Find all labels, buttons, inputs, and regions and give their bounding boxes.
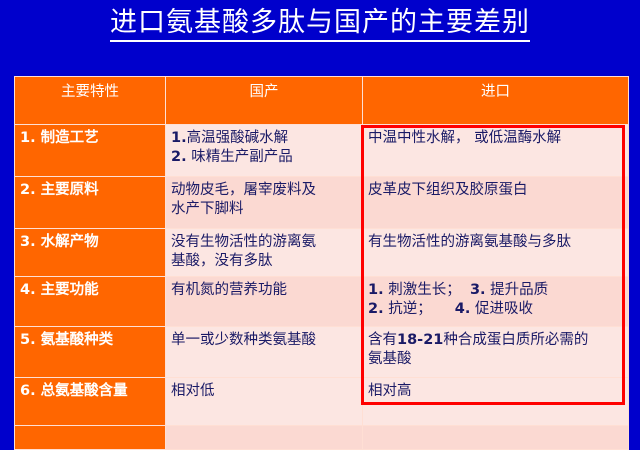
comparison-table-wrapper: 主要特性 国产 进口 1. 制造工艺 1.高温强酸碱水解 2. 味 bbox=[14, 76, 628, 445]
line-number-2: 3. bbox=[470, 282, 486, 298]
row-label-3: 3. 水解产物 bbox=[15, 229, 165, 252]
domestic-cell: 1.高温强酸碱水解 2. 味精生产副产品 bbox=[166, 125, 363, 177]
line-number: 1. bbox=[171, 130, 187, 146]
header-cell-feature: 主要特性 bbox=[15, 77, 166, 125]
imported-line: 氨基酸 bbox=[368, 350, 625, 369]
line-text-2: 提升品质 bbox=[490, 282, 548, 298]
domestic-content-5: 单一或少数种类氨基酸 bbox=[166, 327, 362, 350]
line-number: 2. bbox=[368, 301, 384, 317]
row-label-5: 5. 氨基酸种类 bbox=[15, 327, 165, 350]
imported-cell: 1. 刺激生长； 3. 提升品质 2. 抗逆； 4. 促进吸收 bbox=[363, 277, 629, 327]
empty-imported-cell bbox=[363, 426, 629, 450]
domestic-line: 没有生物活性的游离氨 bbox=[171, 233, 359, 252]
domestic-content-2: 动物皮毛，屠宰废料及 水产下脚料 bbox=[166, 177, 362, 219]
domestic-line: 2. 味精生产副产品 bbox=[171, 148, 359, 167]
row-label-cell: 3. 水解产物 bbox=[15, 229, 166, 277]
table-header-row: 主要特性 国产 进口 bbox=[15, 77, 629, 125]
line-suffix: 种合成蛋白质所必需的 bbox=[443, 332, 588, 348]
imported-cell: 皮革皮下组织及胶原蛋白 bbox=[363, 177, 629, 229]
line-text: 高温强酸碱水解 bbox=[187, 130, 289, 146]
imported-line: 中温中性水解， 或低温酶水解 bbox=[368, 129, 625, 148]
header-feature-label: 主要特性 bbox=[15, 77, 165, 102]
row-number-1: 1. bbox=[20, 130, 36, 146]
slide-root: 进口氨基酸多肽与国产的主要差别 主要特性 国产 进口 1. 制造工艺 bbox=[0, 0, 640, 447]
row-label-cell: 2. 主要原料 bbox=[15, 177, 166, 229]
domestic-content-1: 1.高温强酸碱水解 2. 味精生产副产品 bbox=[166, 125, 362, 167]
empty-label bbox=[15, 426, 165, 449]
imported-cell: 有生物活性的游离氨基酸与多肽 bbox=[363, 229, 629, 277]
row-label-6: 6. 总氨基酸含量 bbox=[15, 378, 165, 401]
line-text: 味精生产副产品 bbox=[191, 149, 293, 165]
row-label-2: 2. 主要原料 bbox=[15, 177, 165, 200]
imported-line: 相对高 bbox=[368, 382, 625, 401]
row-feature-6: 总氨基酸含量 bbox=[41, 383, 128, 399]
row-number-2: 2. bbox=[20, 182, 36, 198]
header-domestic-label: 国产 bbox=[166, 77, 362, 102]
line-text: 抗逆； bbox=[388, 301, 432, 317]
table-row: 2. 主要原料 动物皮毛，屠宰废料及 水产下脚料 皮革皮下组织及胶原蛋白 bbox=[15, 177, 629, 229]
domestic-content-4: 有机氮的营养功能 bbox=[166, 277, 362, 300]
row-feature-4: 主要功能 bbox=[41, 282, 99, 298]
line-bold-range: 18-21 bbox=[397, 332, 443, 348]
imported-content-4: 1. 刺激生长； 3. 提升品质 2. 抗逆； 4. 促进吸收 bbox=[363, 277, 628, 319]
line-text-2: 促进吸收 bbox=[475, 301, 533, 317]
empty-domestic-cell bbox=[166, 426, 363, 450]
line-number-2: 4. bbox=[455, 301, 471, 317]
line-text: 刺激生长； bbox=[388, 282, 461, 298]
table-row: 5. 氨基酸种类 单一或少数种类氨基酸 含有18-21种合成蛋白质所必需的 氨基… bbox=[15, 327, 629, 378]
domestic-line: 有机氮的营养功能 bbox=[171, 281, 359, 300]
table-row-empty bbox=[15, 426, 629, 450]
imported-line: 1. 刺激生长； 3. 提升品质 bbox=[368, 281, 625, 300]
domestic-cell: 单一或少数种类氨基酸 bbox=[166, 327, 363, 378]
imported-cell: 含有18-21种合成蛋白质所必需的 氨基酸 bbox=[363, 327, 629, 378]
domestic-line: 动物皮毛，屠宰废料及 bbox=[171, 181, 359, 200]
empty-imported bbox=[363, 426, 628, 449]
imported-line: 有生物活性的游离氨基酸与多肽 bbox=[368, 233, 625, 252]
imported-line: 2. 抗逆； 4. 促进吸收 bbox=[368, 300, 625, 319]
imported-content-5: 含有18-21种合成蛋白质所必需的 氨基酸 bbox=[363, 327, 628, 369]
row-feature-3: 水解产物 bbox=[41, 234, 99, 250]
imported-cell: 相对高 bbox=[363, 378, 629, 426]
row-number-5: 5. bbox=[20, 332, 36, 348]
imported-content-1: 中温中性水解， 或低温酶水解 bbox=[363, 125, 628, 148]
line-number: 2. bbox=[171, 149, 187, 165]
page-title: 进口氨基酸多肽与国产的主要差别 bbox=[0, 6, 640, 40]
row-label-cell: 6. 总氨基酸含量 bbox=[15, 378, 166, 426]
table-row: 3. 水解产物 没有生物活性的游离氨 基酸，没有多肽 有生物活性的游离氨基酸与多… bbox=[15, 229, 629, 277]
table-row: 1. 制造工艺 1.高温强酸碱水解 2. 味精生产副产品 中温中性水解， 或低温… bbox=[15, 125, 629, 177]
domestic-cell: 相对低 bbox=[166, 378, 363, 426]
domestic-cell: 没有生物活性的游离氨 基酸，没有多肽 bbox=[166, 229, 363, 277]
header-cell-domestic: 国产 bbox=[166, 77, 363, 125]
header-cell-imported: 进口 bbox=[363, 77, 629, 125]
domestic-line: 基酸，没有多肽 bbox=[171, 252, 359, 271]
row-feature-1: 制造工艺 bbox=[41, 130, 99, 146]
header-imported-label: 进口 bbox=[363, 77, 628, 102]
domestic-content-3: 没有生物活性的游离氨 基酸，没有多肽 bbox=[166, 229, 362, 271]
imported-cell: 中温中性水解， 或低温酶水解 bbox=[363, 125, 629, 177]
domestic-content-6: 相对低 bbox=[166, 378, 362, 401]
table-row: 4. 主要功能 有机氮的营养功能 1. 刺激生长； 3. 提升品质 2. 抗逆；… bbox=[15, 277, 629, 327]
comparison-table: 主要特性 国产 进口 1. 制造工艺 1.高温强酸碱水解 2. 味 bbox=[14, 76, 629, 450]
row-label-cell: 1. 制造工艺 bbox=[15, 125, 166, 177]
table-row: 6. 总氨基酸含量 相对低 相对高 bbox=[15, 378, 629, 426]
imported-content-3: 有生物活性的游离氨基酸与多肽 bbox=[363, 229, 628, 252]
row-number-6: 6. bbox=[20, 383, 36, 399]
domestic-cell: 有机氮的营养功能 bbox=[166, 277, 363, 327]
row-label-cell: 4. 主要功能 bbox=[15, 277, 166, 327]
imported-line: 皮革皮下组织及胶原蛋白 bbox=[368, 181, 625, 200]
empty-label-cell bbox=[15, 426, 166, 450]
row-label-cell: 5. 氨基酸种类 bbox=[15, 327, 166, 378]
imported-line: 含有18-21种合成蛋白质所必需的 bbox=[368, 331, 625, 350]
line-prefix: 含有 bbox=[368, 332, 397, 348]
empty-domestic bbox=[166, 426, 362, 449]
row-number-3: 3. bbox=[20, 234, 36, 250]
row-feature-5: 氨基酸种类 bbox=[41, 332, 114, 348]
row-number-4: 4. bbox=[20, 282, 36, 298]
domestic-line: 单一或少数种类氨基酸 bbox=[171, 331, 359, 350]
domestic-line: 水产下脚料 bbox=[171, 200, 359, 219]
page-title-text: 进口氨基酸多肽与国产的主要差别 bbox=[110, 7, 530, 42]
row-feature-2: 主要原料 bbox=[41, 182, 99, 198]
row-label-1: 1. 制造工艺 bbox=[15, 125, 165, 148]
domestic-cell: 动物皮毛，屠宰废料及 水产下脚料 bbox=[166, 177, 363, 229]
row-label-4: 4. 主要功能 bbox=[15, 277, 165, 300]
domestic-line: 相对低 bbox=[171, 382, 359, 401]
line-number: 1. bbox=[368, 282, 384, 298]
imported-content-2: 皮革皮下组织及胶原蛋白 bbox=[363, 177, 628, 200]
imported-content-6: 相对高 bbox=[363, 378, 628, 401]
domestic-line: 1.高温强酸碱水解 bbox=[171, 129, 359, 148]
